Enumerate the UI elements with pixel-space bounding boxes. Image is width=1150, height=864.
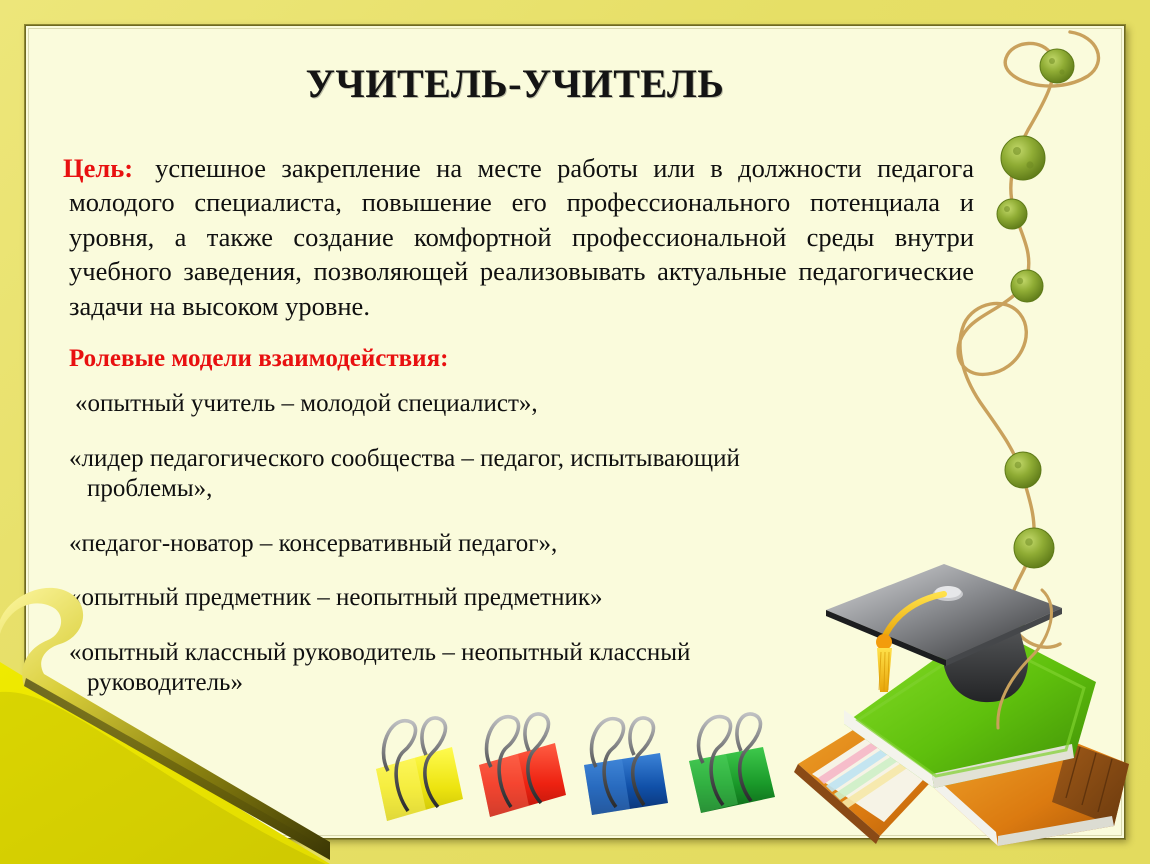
roles-list: «опытный учитель – молодой специалист», … (43, 389, 973, 699)
list-item: «опытный предметник – неопытный предметн… (43, 583, 847, 614)
goal-paragraph: Цель:успешное закрепление на месте работ… (43, 151, 974, 323)
slide-root: УЧИТЕЛЬ-УЧИТЕЛЬ Цель:успешное закреплени… (0, 0, 1150, 864)
list-item: «опытный классный руководитель – неопытн… (43, 638, 847, 699)
list-item: «педагог-новатор – консервативный педаго… (43, 529, 847, 560)
roles-heading: Ролевые модели взаимодействия: (43, 345, 973, 373)
goal-label: Цель: (63, 153, 133, 183)
goal-text: успешное закрепление на месте работы или… (69, 153, 974, 321)
list-item: «опытный учитель – молодой специалист», (43, 389, 853, 420)
page-title: УЧИТЕЛЬ-УЧИТЕЛЬ (43, 60, 973, 107)
slide-content: УЧИТЕЛЬ-УЧИТЕЛЬ Цель:успешное закреплени… (43, 60, 973, 699)
list-item: «лидер педагогического сообщества – педа… (43, 444, 847, 505)
